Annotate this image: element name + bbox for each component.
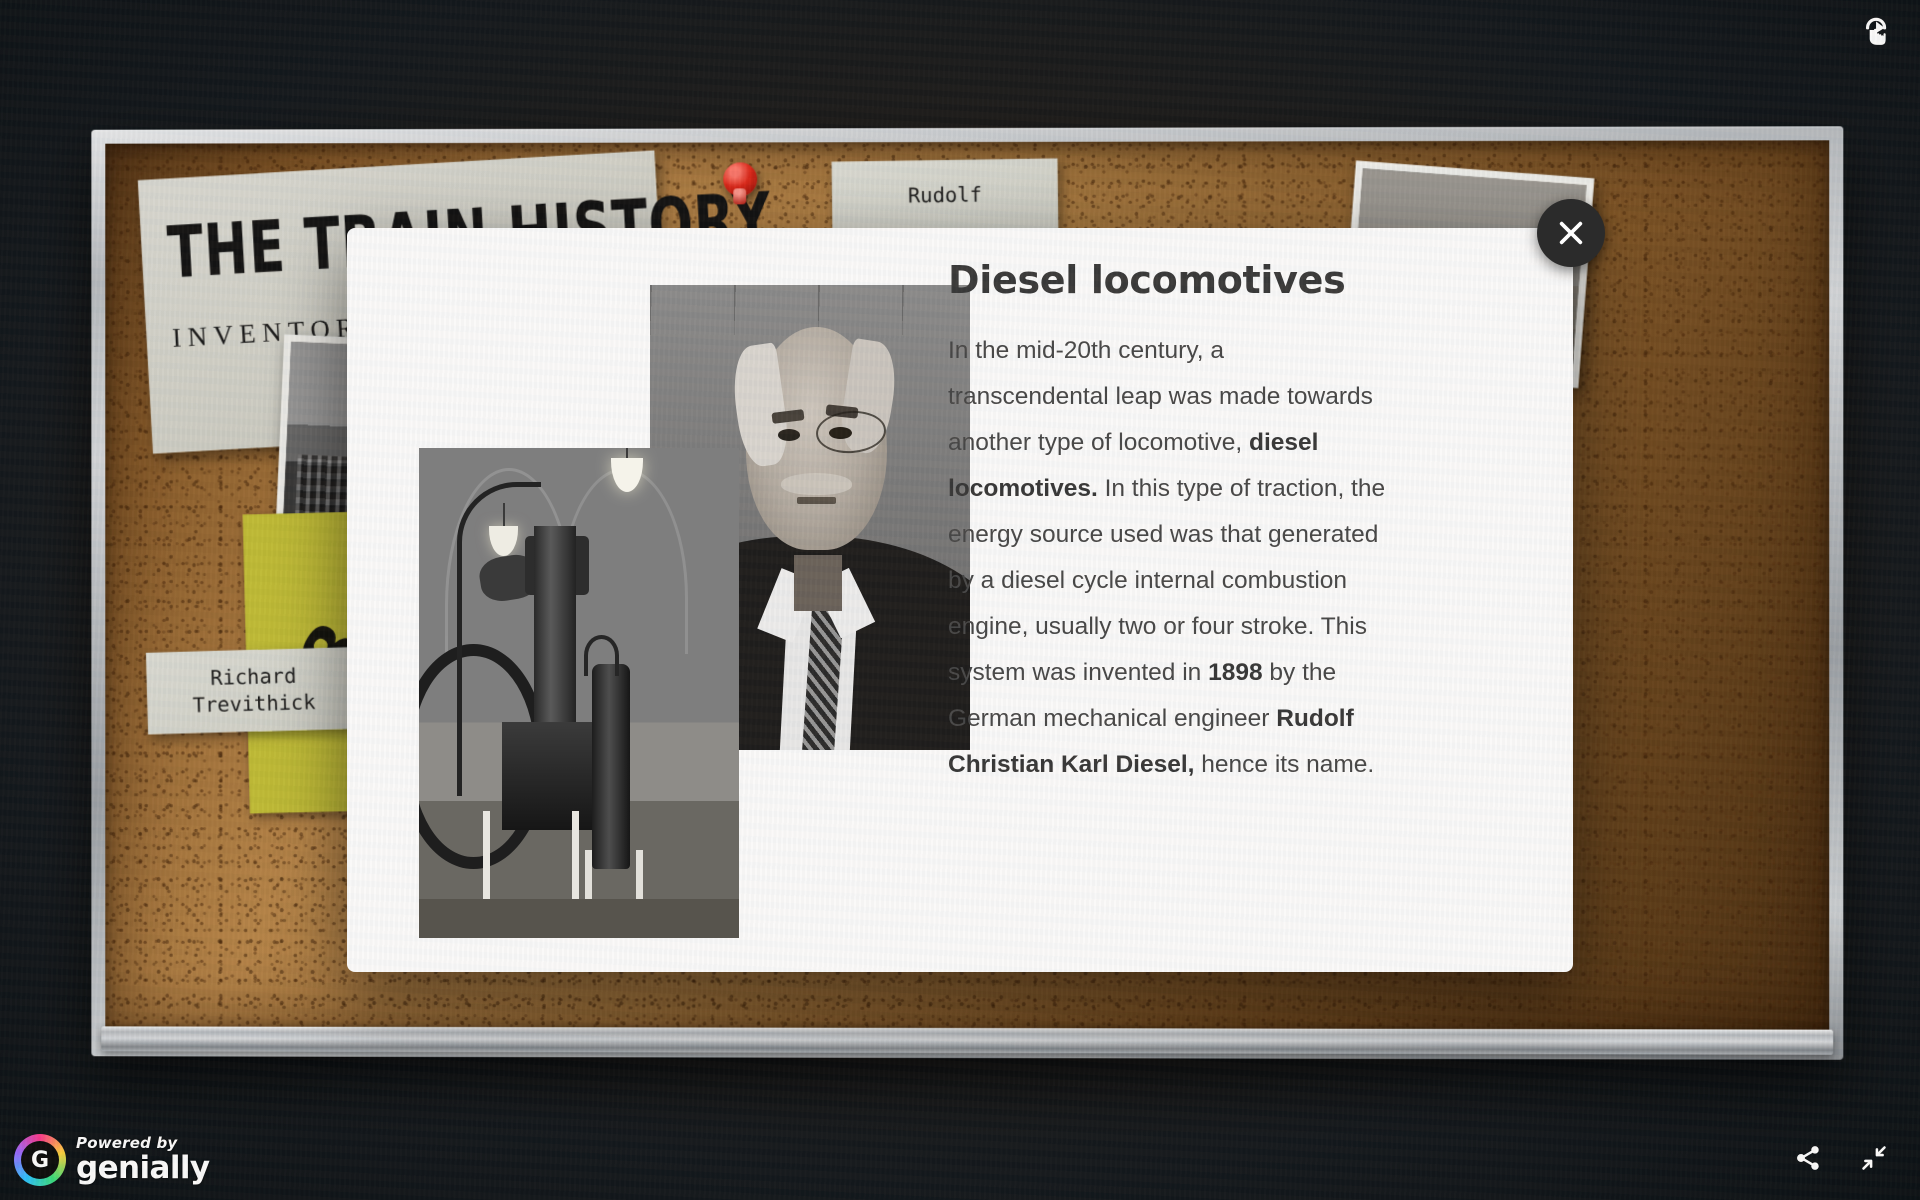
presentation-stage: THE TRAIN HISTORY INVENTORS 18 Richard T… [0,0,1920,1200]
genially-mark-letter: G [21,1141,59,1179]
modal-title: Diesel locomotives [948,258,1388,302]
info-modal: Diesel locomotives In the mid-20th centu… [347,228,1573,972]
close-icon [1557,219,1585,247]
share-icon [1794,1144,1822,1172]
share-button[interactable] [1788,1138,1828,1178]
label-richard-trevithick[interactable]: Richard Trevithick [146,647,362,735]
genially-logo[interactable]: G Powered by genially [14,1134,210,1186]
modal-engine-photo [419,448,739,938]
close-modal-button[interactable] [1537,199,1605,267]
genially-mark-icon: G [14,1134,66,1186]
board-tray [101,1026,1833,1054]
genially-wordmark: Powered by genially [76,1136,210,1184]
exit-fullscreen-icon [1860,1144,1888,1172]
modal-text-column: Diesel locomotives In the mid-20th centu… [948,258,1388,788]
genially-powered-by: Powered by [76,1136,210,1151]
interactivity-hint-button[interactable] [1854,10,1896,52]
genially-name: genially [76,1153,210,1184]
hand-pointer-icon [1858,14,1892,48]
label-richard-trevithick-text: Richard Trevithick [192,662,316,718]
modal-body: In the mid-20th century, a transcendenta… [948,328,1388,788]
exit-fullscreen-button[interactable] [1854,1138,1894,1178]
label-rudolf-text: Rudolf [908,182,982,210]
pushpin-red-icon [723,162,757,196]
